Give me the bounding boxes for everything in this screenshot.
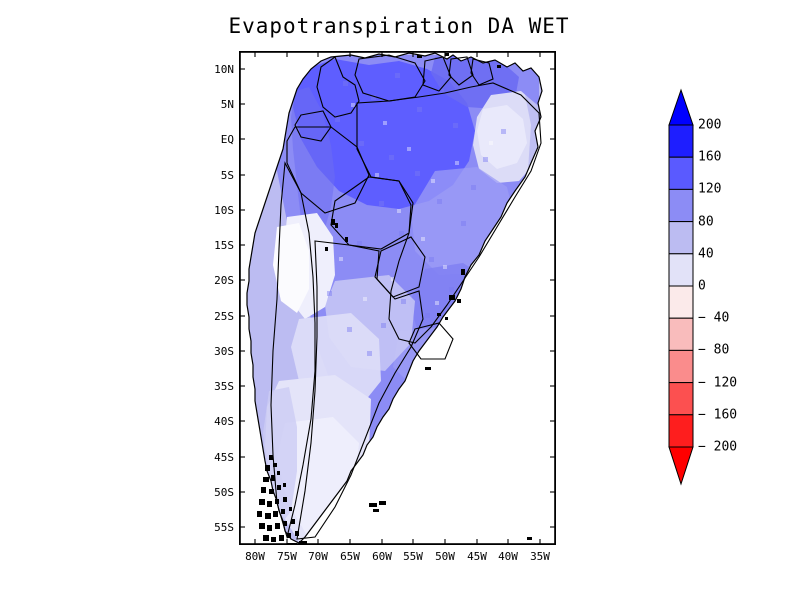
y-tick-label-35S: 35S <box>185 380 234 393</box>
colorbar-label-80: 80 <box>698 214 714 229</box>
y-tick-label-EQ: EQ <box>185 133 234 146</box>
colorbar-cap-bottom <box>669 447 693 484</box>
y-tick-label-40S: 40S <box>185 415 234 428</box>
y-tick-label-10N: 10N <box>185 63 234 76</box>
y-tick-label-30S: 30S <box>185 345 234 358</box>
y-tick-label-10S: 10S <box>185 204 234 217</box>
page-title: Evapotranspiration DA WET <box>0 14 800 38</box>
y-tick-label-25S: 25S <box>185 310 234 323</box>
colorbar-label-120: 120 <box>698 182 721 197</box>
y-tick-label-50S: 50S <box>185 486 234 499</box>
colorbar-band-120-160 <box>669 157 693 189</box>
colorbar-label-40: 40 <box>698 246 714 261</box>
colorbar-band-neg80-neg40 <box>669 318 693 350</box>
grads-figure: Evapotranspiration DA WET <box>0 0 800 600</box>
colorbar[interactable]: 200 160 120 80 40 0 − 40 − 80 − 120 − 16… <box>668 88 788 528</box>
y-tick-label-5N: 5N <box>185 98 234 111</box>
colorbar-label-200: 200 <box>698 118 721 133</box>
colorbar-band-neg40-0 <box>669 286 693 318</box>
y-tick-label-20S: 20S <box>185 274 234 287</box>
colorbar-band-neg160-neg120 <box>669 383 693 415</box>
colorbar-label-neg120: − 120 <box>698 375 737 390</box>
colorbar-label-0: 0 <box>698 279 706 294</box>
colorbar-label-160: 160 <box>698 150 721 165</box>
y-tick-label-15S: 15S <box>185 239 234 252</box>
colorbar-band-80-120 <box>669 189 693 221</box>
y-tick-label-55S: 55S <box>185 521 234 534</box>
colorbar-band-40-80 <box>669 222 693 254</box>
colorbar-band-neg120-neg80 <box>669 350 693 382</box>
colorbar-label-neg200: − 200 <box>698 440 737 455</box>
colorbar-cap-top <box>669 90 693 125</box>
south-america-map <box>239 51 556 545</box>
y-tick-label-5S: 5S <box>185 169 234 182</box>
colorbar-label-neg80: − 80 <box>698 343 729 358</box>
colorbar-label-neg40: − 40 <box>698 311 729 326</box>
colorbar-label-neg160: − 160 <box>698 407 737 422</box>
title-text: Evapotranspiration DA WET <box>228 14 569 38</box>
colorbar-band-neg200-neg160 <box>669 415 693 447</box>
x-tick-label-35W: 35W <box>517 550 563 563</box>
map-plot-area <box>239 51 556 545</box>
colorbar-band-0-40 <box>669 254 693 286</box>
colorbar-band-160-200 <box>669 125 693 157</box>
y-tick-label-45S: 45S <box>185 451 234 464</box>
